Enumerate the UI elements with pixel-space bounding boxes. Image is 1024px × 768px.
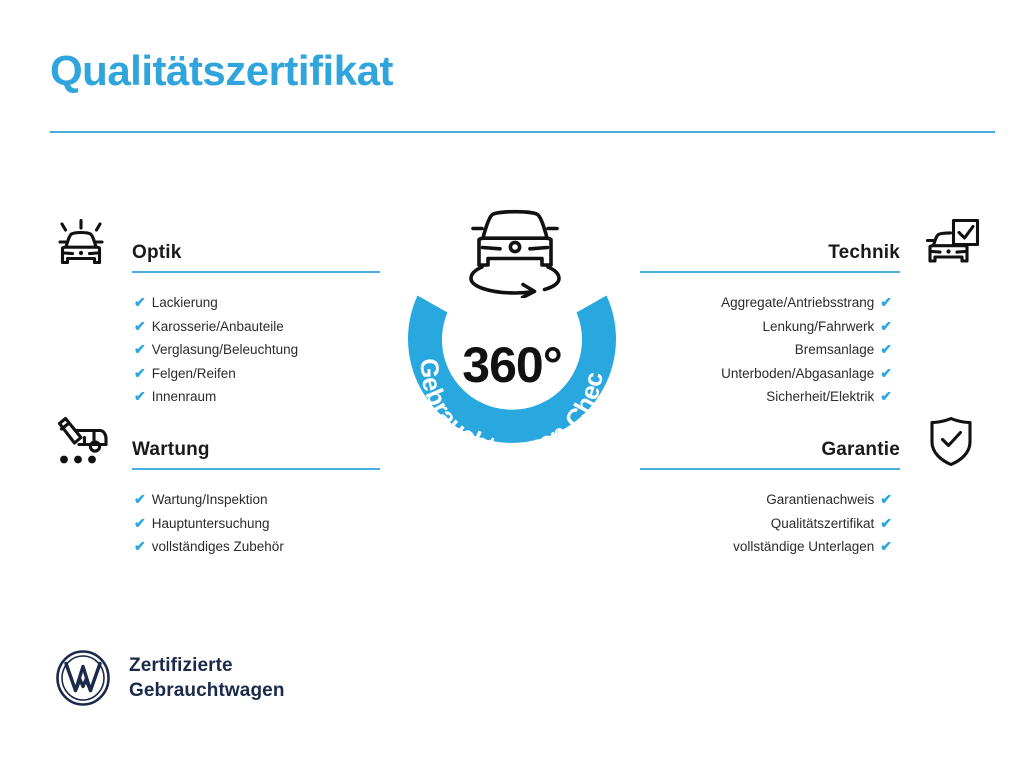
- checklist-technik: Aggregate/Antriebsstrang✔ Lenkung/Fahrwe…: [640, 291, 984, 409]
- car-polish-shine-icon: [48, 213, 114, 275]
- vw-lockup-line1: Zertifizierte: [129, 653, 285, 678]
- check-icon: ✔: [134, 291, 146, 315]
- list-item-label: vollständiges Zubehör: [152, 539, 284, 554]
- check-icon: ✔: [134, 362, 146, 386]
- section-wartung: Wartung ✔Wartung/Inspektion ✔Hauptunters…: [48, 400, 380, 559]
- list-item: Lenkung/Fahrwerk✔: [640, 315, 892, 339]
- certificate-page: Qualitätszertifikat: [0, 0, 1024, 768]
- volkswagen-logo: [55, 650, 111, 706]
- section-title-optik: Optik: [132, 242, 380, 271]
- checklist-garantie: Garantienachweis✔ Qualitätszertifikat✔ v…: [640, 488, 984, 559]
- list-item: Bremsanlage✔: [640, 338, 892, 362]
- section-technik: Technik Aggregate/Antriebsstrang✔ Lenkun…: [640, 203, 984, 409]
- check-icon: ✔: [134, 535, 146, 559]
- list-item-label: Karosserie/Anbauteile: [152, 319, 284, 334]
- list-item: Aggregate/Antriebsstrang✔: [640, 291, 892, 315]
- section-underline-technik: [640, 271, 900, 273]
- checklist-optik: ✔Lackierung ✔Karosserie/Anbauteile ✔Verg…: [48, 291, 380, 409]
- vw-lockup-text: Zertifizierte Gebrauchtwagen: [129, 653, 285, 703]
- section-underline-optik: [132, 271, 380, 273]
- section-underline-wartung: [132, 468, 380, 470]
- check-icon: ✔: [880, 512, 892, 536]
- list-item-label: Garantienachweis: [766, 492, 874, 507]
- check-icon: ✔: [134, 338, 146, 362]
- list-item: ✔Hauptuntersuchung: [134, 512, 380, 536]
- list-item: ✔Lackierung: [134, 291, 380, 315]
- check-icon: ✔: [880, 338, 892, 362]
- pen-car-service-icon: [48, 410, 114, 472]
- list-item-label: Aggregate/Antriebsstrang: [721, 295, 874, 310]
- check-icon: ✔: [134, 488, 146, 512]
- section-title-garantie: Garantie: [640, 439, 900, 468]
- volkswagen-certified-lockup: Zertifizierte Gebrauchtwagen: [55, 650, 285, 706]
- section-optik: Optik ✔Lackierung ✔Karosserie/Anbauteile…: [48, 203, 380, 409]
- check-icon: ✔: [880, 362, 892, 386]
- check-icon: ✔: [880, 535, 892, 559]
- check-icon: ✔: [134, 315, 146, 339]
- check-icon: ✔: [134, 512, 146, 536]
- list-item: Qualitätszertifikat✔: [640, 512, 892, 536]
- list-item-label: Lackierung: [152, 295, 218, 310]
- section-title-technik: Technik: [640, 242, 900, 271]
- list-item-label: Unterboden/Abgasanlage: [721, 366, 874, 381]
- list-item-label: Bremsanlage: [795, 342, 875, 357]
- list-item: Unterboden/Abgasanlage✔: [640, 362, 892, 386]
- section-garantie: Garantie Garantienachweis✔ Qualitätszert…: [640, 400, 984, 559]
- list-item-label: Hauptuntersuchung: [152, 516, 270, 531]
- section-underline-garantie: [640, 468, 900, 470]
- section-title-wartung: Wartung: [132, 439, 380, 468]
- list-item: ✔Verglasung/Beleuchtung: [134, 338, 380, 362]
- list-item: ✔vollständiges Zubehör: [134, 535, 380, 559]
- list-item: Garantienachweis✔: [640, 488, 892, 512]
- badge-degrees-label: 360°: [377, 336, 647, 394]
- badge-360-gebrauchtwagen-check: Gebrauchtwagen-Check 360°: [377, 198, 647, 483]
- list-item: vollständige Unterlagen✔: [640, 535, 892, 559]
- list-item-label: Lenkung/Fahrwerk: [762, 319, 874, 334]
- vw-lockup-line2: Gebrauchtwagen: [129, 678, 285, 703]
- list-item: ✔Karosserie/Anbauteile: [134, 315, 380, 339]
- list-item-label: Verglasung/Beleuchtung: [152, 342, 298, 357]
- list-item: ✔Wartung/Inspektion: [134, 488, 380, 512]
- list-item-label: Wartung/Inspektion: [152, 492, 268, 507]
- shield-check-icon: [918, 410, 984, 472]
- check-icon: ✔: [880, 488, 892, 512]
- car-front-rotate-icon: [455, 198, 575, 298]
- check-icon: ✔: [880, 291, 892, 315]
- list-item-label: Qualitätszertifikat: [771, 516, 875, 531]
- title-divider: [50, 131, 995, 133]
- car-checkbox-icon: [918, 213, 984, 275]
- list-item-label: vollständige Unterlagen: [733, 539, 874, 554]
- page-title: Qualitätszertifikat: [50, 50, 393, 92]
- checklist-wartung: ✔Wartung/Inspektion ✔Hauptuntersuchung ✔…: [48, 488, 380, 559]
- list-item: ✔Felgen/Reifen: [134, 362, 380, 386]
- check-icon: ✔: [880, 315, 892, 339]
- list-item-label: Felgen/Reifen: [152, 366, 236, 381]
